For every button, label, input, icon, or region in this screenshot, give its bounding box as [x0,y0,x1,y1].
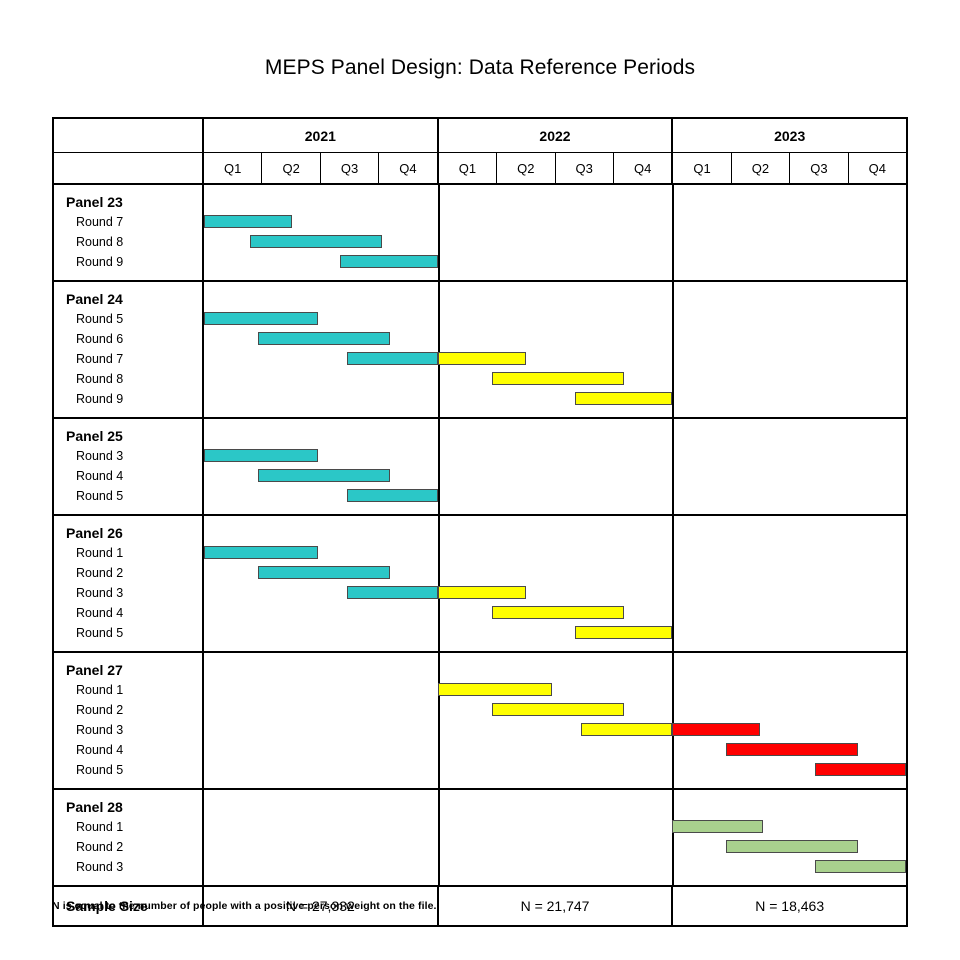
year-separator-2 [672,516,674,651]
quarter-header-2022-q1: Q1 [439,153,497,183]
year-separator-1 [438,790,440,885]
panel-label-cell: Panel 24Round 5Round 6Round 7Round 8Roun… [54,282,204,417]
year-separator-1 [438,516,440,651]
panel-name: Panel 28 [54,797,202,817]
panel-row: Panel 24Round 5Round 6Round 7Round 8Roun… [54,282,906,419]
quarter-header-2023-q4: Q4 [849,153,906,183]
sample-size-value-2022: N = 21,747 [439,887,674,925]
year-header-2022: 2022 [439,119,674,152]
quarter-header-2021-q4: Q4 [379,153,436,183]
panel-name: Panel 24 [54,289,202,309]
panel-row: Panel 23Round 7Round 8Round 9 [54,185,906,282]
reference-period-bar [726,743,858,756]
panel-name: Panel 23 [54,192,202,212]
round-label: Round 3 [54,446,202,466]
reference-period-bar [258,332,390,345]
panel-label-cell: Panel 23Round 7Round 8Round 9 [54,185,204,280]
quarter-header-2023-q3: Q3 [790,153,848,183]
round-label: Round 4 [54,603,202,623]
reference-period-bar [438,683,552,696]
quarter-header-corner-cell [54,153,204,183]
panel-grid [204,282,906,417]
round-label: Round 5 [54,486,202,506]
reference-period-bar [340,255,438,268]
quarter-header-2021-q1: Q1 [204,153,262,183]
reference-period-bar [726,840,858,853]
round-label: Round 3 [54,857,202,877]
round-label: Round 2 [54,700,202,720]
panel-grid [204,653,906,788]
year-header-2023: 2023 [673,119,906,152]
year-header-2021: 2021 [204,119,439,152]
panel-grid [204,185,906,280]
reference-period-bar [204,215,292,228]
round-label: Round 6 [54,329,202,349]
panel-label-cell: Panel 26Round 1Round 2Round 3Round 4Roun… [54,516,204,651]
reference-period-bar [581,723,672,736]
quarter-header-2023-q1: Q1 [673,153,731,183]
round-label: Round 4 [54,466,202,486]
reference-period-bar [815,763,906,776]
panel-label-cell: Panel 28Round 1Round 2Round 3 [54,790,204,885]
panel-label-cell: Panel 27Round 1Round 2Round 3Round 4Roun… [54,653,204,788]
round-label: Round 3 [54,583,202,603]
round-label: Round 7 [54,212,202,232]
year-separator-2 [672,653,674,788]
reference-period-bar [492,372,624,385]
reference-period-bar [438,586,526,599]
reference-period-bar [250,235,383,248]
quarter-group-2023: Q1Q2Q3Q4 [673,153,906,183]
quarter-header-2022-q4: Q4 [614,153,671,183]
reference-period-bar [258,566,390,579]
reference-period-bar [204,312,318,325]
panel-name: Panel 25 [54,426,202,446]
reference-period-bar [438,352,526,365]
table-header-years: 2021 2022 2023 [54,119,906,153]
round-label: Round 1 [54,680,202,700]
round-label: Round 2 [54,563,202,583]
reference-period-bar [492,606,624,619]
panel-grid [204,516,906,651]
round-label: Round 1 [54,817,202,837]
year-separator-1 [438,282,440,417]
year-separator-2 [672,790,674,885]
year-separator-1 [438,185,440,280]
quarter-header-2021-q3: Q3 [321,153,379,183]
quarter-header-group: Q1Q2Q3Q4Q1Q2Q3Q4Q1Q2Q3Q4 [204,153,906,183]
quarter-header-2023-q2: Q2 [732,153,790,183]
reference-period-bar [672,723,760,736]
reference-period-bar [815,860,906,873]
panel-rows-container: Panel 23Round 7Round 8Round 9Panel 24Rou… [54,185,906,887]
panel-row: Panel 27Round 1Round 2Round 3Round 4Roun… [54,653,906,790]
round-label: Round 5 [54,309,202,329]
panel-name: Panel 27 [54,660,202,680]
round-label: Round 8 [54,232,202,252]
round-label: Round 7 [54,349,202,369]
table-header-quarters: Q1Q2Q3Q4Q1Q2Q3Q4Q1Q2Q3Q4 [54,153,906,185]
year-separator-2 [672,185,674,280]
round-label: Round 1 [54,543,202,563]
year-separator-1 [438,653,440,788]
reference-period-bar [347,489,438,502]
round-label: Round 2 [54,837,202,857]
footnote: N is equal to the number of people with … [52,900,437,912]
panel-grid [204,419,906,514]
panel-row: Panel 28Round 1Round 2Round 3 [54,790,906,887]
round-label: Round 9 [54,389,202,409]
round-label: Round 4 [54,740,202,760]
quarter-group-2021: Q1Q2Q3Q4 [204,153,439,183]
reference-period-bar [672,820,763,833]
year-separator-2 [672,282,674,417]
reference-period-bar [258,469,390,482]
sample-size-value-2023: N = 18,463 [673,887,906,925]
panel-row: Panel 25Round 3Round 4Round 5 [54,419,906,516]
reference-period-bar [575,392,672,405]
reference-period-bar [204,546,318,559]
page-title: MEPS Panel Design: Data Reference Period… [0,56,960,80]
meps-panel-design-table: 2021 2022 2023 Q1Q2Q3Q4Q1Q2Q3Q4Q1Q2Q3Q4 … [52,117,908,927]
year-header-group: 2021 2022 2023 [204,119,906,152]
reference-period-bar [492,703,624,716]
reference-period-bar [347,352,438,365]
panel-label-cell: Panel 25Round 3Round 4Round 5 [54,419,204,514]
quarter-header-2022-q2: Q2 [497,153,555,183]
round-label: Round 9 [54,252,202,272]
quarter-group-2022: Q1Q2Q3Q4 [439,153,674,183]
reference-period-bar [347,586,438,599]
panel-grid [204,790,906,885]
year-separator-1 [438,419,440,514]
reference-period-bar [575,626,672,639]
panel-row: Panel 26Round 1Round 2Round 3Round 4Roun… [54,516,906,653]
header-corner-cell [54,119,204,152]
quarter-header-2022-q3: Q3 [556,153,614,183]
quarter-header-2021-q2: Q2 [262,153,320,183]
round-label: Round 5 [54,760,202,780]
round-label: Round 3 [54,720,202,740]
round-label: Round 8 [54,369,202,389]
panel-name: Panel 26 [54,523,202,543]
round-label: Round 5 [54,623,202,643]
reference-period-bar [204,449,318,462]
year-separator-2 [672,419,674,514]
